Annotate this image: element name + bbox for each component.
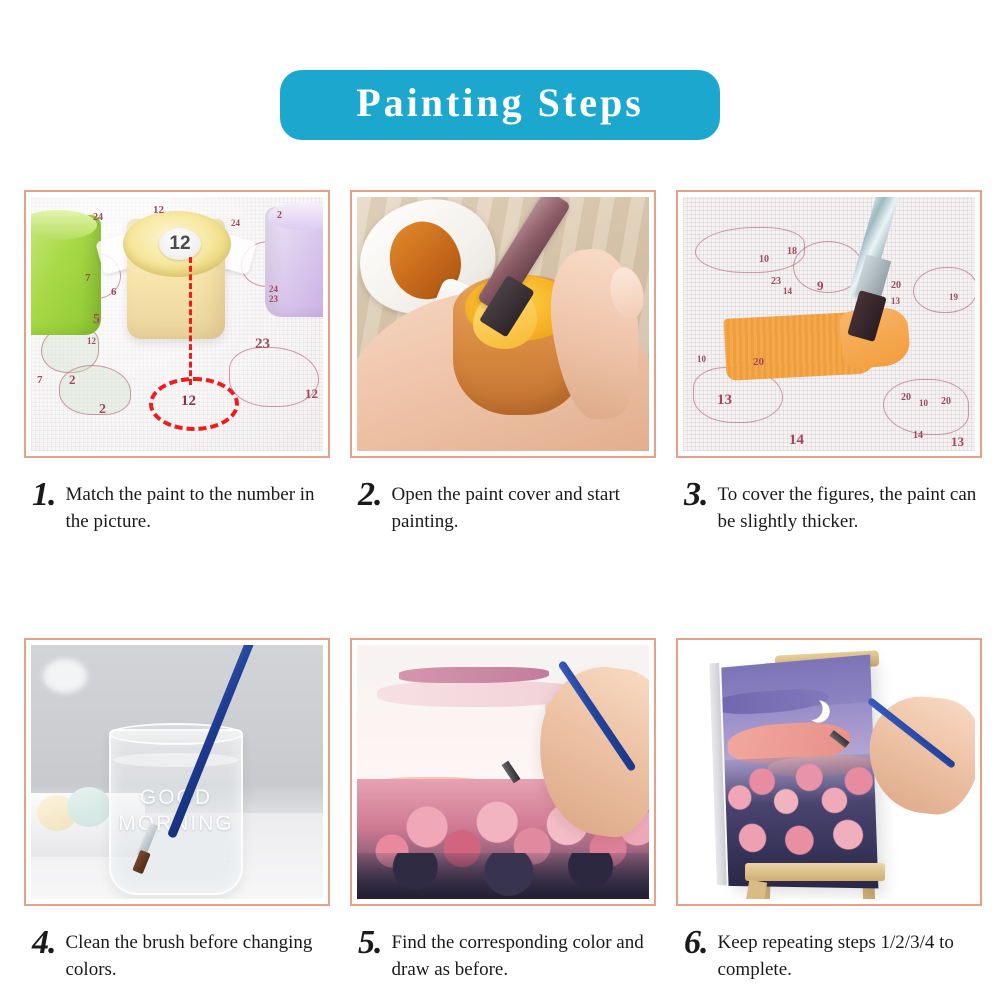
canvas-number: 24 [231,219,240,228]
canvas-number: 20 [891,281,901,291]
canvas-number: 24 [93,213,103,223]
canvas-number: 2 [99,403,106,417]
step-6-caption: 6. Keep repeating steps 1/2/3/4 to compl… [676,924,982,984]
step-6-text: Keep repeating steps 1/2/3/4 to complete… [718,924,983,984]
canvas-number: 12 [153,205,164,216]
step-card-6: 6. Keep repeating steps 1/2/3/4 to compl… [676,638,982,984]
canvas-number: 18 [787,247,797,257]
step-1-text: Match the paint to the number in the pic… [66,476,331,536]
step-4-number: 4. [32,924,66,960]
water-surface [113,753,239,767]
finished-painting-on-easel-photo [683,645,975,899]
red-dashed-callout-line [189,257,192,385]
step-4-image-frame: GOOD MORNING [24,638,330,906]
page-title: Painting Steps [326,82,674,124]
step-2-image-frame [350,190,656,458]
painted-dark-foliage [357,853,649,899]
glass-rim [109,723,243,745]
title-banner-wrap: Painting Steps [0,70,1000,140]
step-3-image-frame: 10 18 23 14 9 20 13 19 10 20 13 14 20 10… [676,190,982,458]
canvas-number: 10 [697,355,706,364]
canvas-number: 12 [305,387,318,400]
canvas-number: 14 [789,433,804,448]
step-5-number: 5. [358,924,392,960]
canvas-number: 9 [817,279,824,292]
painted-cloud-dark [399,667,549,683]
glass-text-line-1: GOOD [109,785,243,811]
step-card-5: 5. Find the corresponding color and draw… [350,638,656,984]
step-card-3: 10 18 23 14 9 20 13 19 10 20 13 14 20 10… [676,190,982,536]
step-3-caption: 3. To cover the figures, the paint can b… [676,476,982,536]
step-6-image-frame [676,638,982,906]
canvas-number: 14 [783,287,792,296]
canvas-number: 20 [753,357,764,368]
canvas-number: 10 [919,399,928,408]
step-4-caption: 4. Clean the brush before changing color… [24,924,330,984]
step-3-number: 3. [684,476,718,512]
step-1-caption: 1. Match the paint to the number in the … [24,476,330,536]
canvas-number: 19 [949,293,958,302]
canvas-number: 7 [85,273,91,284]
canvas-number: 10 [759,255,769,265]
step-card-1: 12 12 12 24 2 7 6 5 12 2 7 2 23 24 2 [24,190,330,536]
step-4-text: Clean the brush before changing colors. [66,924,331,984]
canvas-number: 14 [913,431,923,441]
step-1-image-frame: 12 12 12 24 2 7 6 5 12 2 7 2 23 24 2 [24,190,330,458]
canvas-number: 23 [269,295,278,304]
painting-in-progress-photo [357,645,649,899]
paint-pot-number-match-photo: 12 12 12 24 2 7 6 5 12 2 7 2 23 24 2 [31,197,323,451]
canvas-number: 6 [111,287,117,298]
canvas-number: 20 [901,393,911,403]
paint-pot-number-label: 12 [159,228,201,260]
background-object [43,659,87,693]
step-6-number: 6. [684,924,718,960]
background-object [67,787,111,827]
step-5-text: Find the corresponding color and draw as… [392,924,657,984]
rinse-brush-in-water-photo: GOOD MORNING [31,645,323,899]
step-5-image-frame [350,638,656,906]
finished-canvas [721,654,878,888]
step-2-number: 2. [358,476,392,512]
canvas-number: 24 [269,285,278,294]
canvas-number: 7 [37,375,43,386]
painting-steps-infographic: Painting Steps [0,0,1000,1000]
steps-grid: 12 12 12 24 2 7 6 5 12 2 7 2 23 24 2 [24,190,982,984]
canvas-number: 2 [69,373,76,386]
thick-paint-stroke-photo: 10 18 23 14 9 20 13 19 10 20 13 14 20 10… [683,197,975,451]
step-3-text: To cover the figures, the paint can be s… [718,476,983,536]
canvas-number: 5 [93,313,100,327]
canvas-number: 13 [891,297,900,306]
easel-tray [745,863,885,881]
canvas-number: 13 [951,435,964,448]
step-5-caption: 5. Find the corresponding color and draw… [350,924,656,984]
open-paint-pot-photo [357,197,649,451]
canvas-number: 20 [941,397,951,407]
canvas-number: 2 [277,211,282,221]
title-banner: Painting Steps [280,70,720,140]
canvas-number: 12 [87,337,96,346]
canvas-number: 13 [717,393,732,408]
canvas-number: 23 [255,337,270,352]
step-card-4: GOOD MORNING 4. Clean the brush before c… [24,638,330,984]
step-1-number: 1. [32,476,66,512]
canvas-shape [913,267,975,313]
step-card-2: 2. Open the paint cover and start painti… [350,190,656,536]
crescent-moon-icon [800,697,823,721]
step-2-text: Open the paint cover and start painting. [392,476,657,536]
easel-foot [745,880,767,899]
canvas-target-number: 12 [181,393,196,410]
step-2-caption: 2. Open the paint cover and start painti… [350,476,656,536]
canvas-number: 23 [771,277,781,287]
